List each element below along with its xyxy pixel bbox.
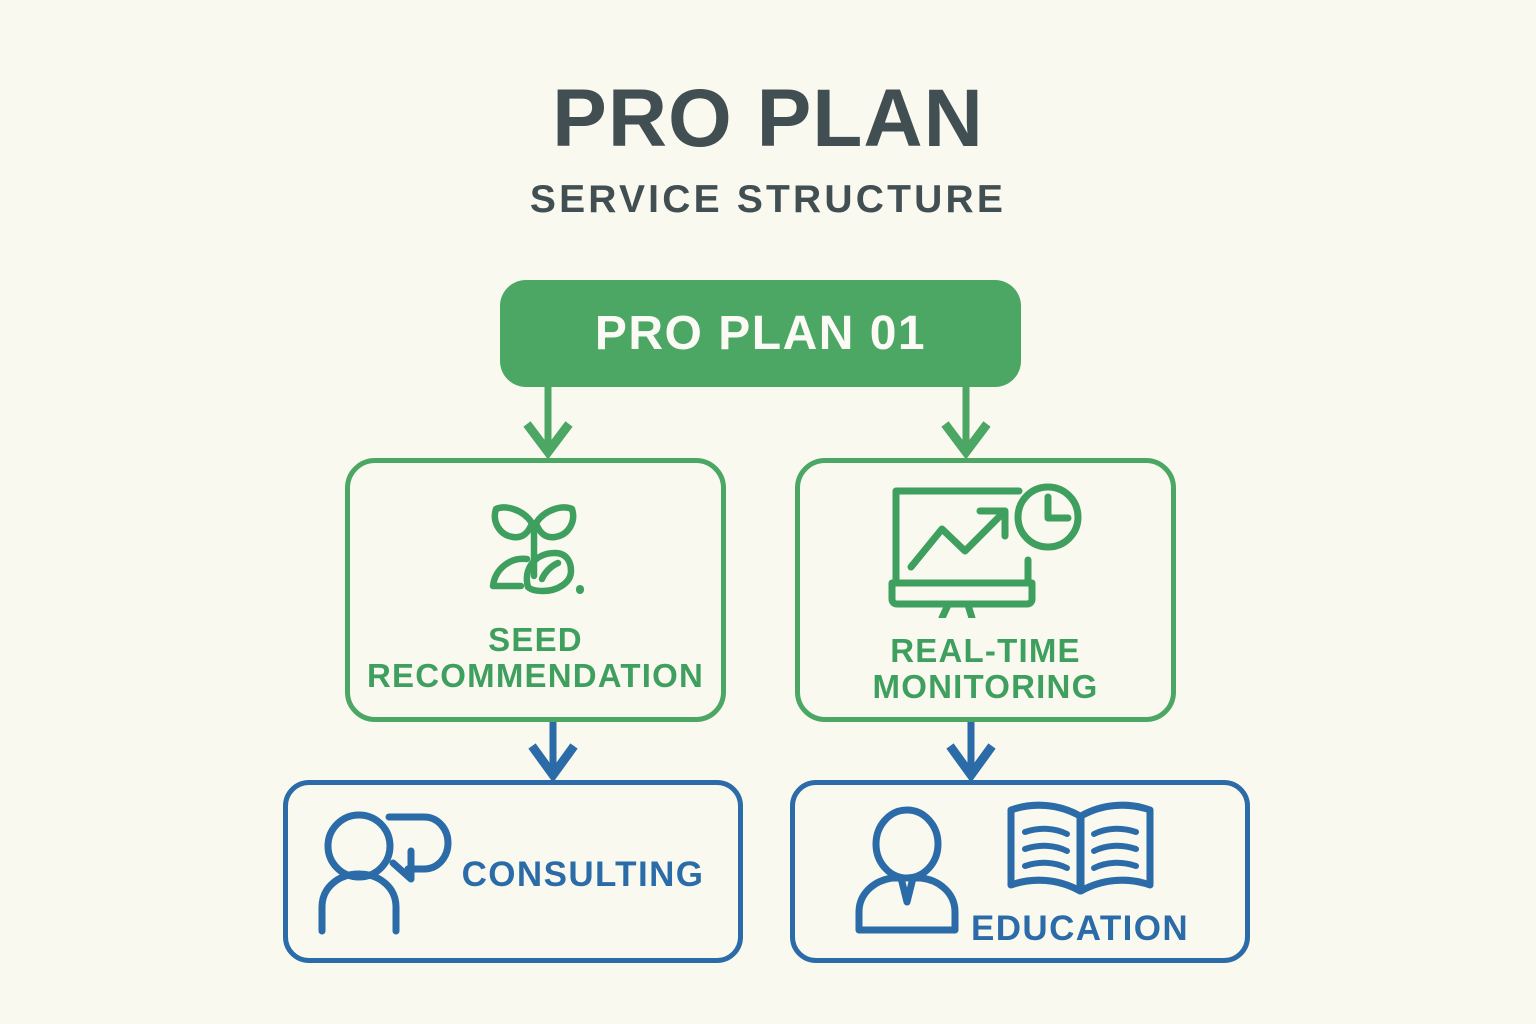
monitor-chart-clock-icon xyxy=(880,478,1092,623)
open-book-icon xyxy=(1003,796,1158,905)
page-subtitle: SERVICE STRUCTURE xyxy=(0,180,1536,219)
root-node-label: PRO PLAN 01 xyxy=(595,310,926,358)
node-seed-recommendation-label: SEED RECOMMENDATION xyxy=(367,622,704,693)
connector-monitoring-to-education xyxy=(950,722,992,775)
node-consulting[interactable]: CONSULTING xyxy=(283,780,743,963)
connector-seed-to-consulting xyxy=(532,722,574,775)
teacher-person-icon xyxy=(847,804,967,939)
root-node-pro-plan-01[interactable]: PRO PLAN 01 xyxy=(500,280,1021,387)
diagram-canvas: PRO PLAN SERVICE STRUCTURE PRO PLAN 01 xyxy=(0,0,1536,1024)
node-real-time-monitoring-label: REAL-TIME MONITORING xyxy=(873,633,1099,704)
node-education-label: EDUCATION xyxy=(971,911,1189,948)
node-real-time-monitoring[interactable]: REAL-TIME MONITORING xyxy=(795,458,1176,722)
page-title: PRO PLAN xyxy=(0,78,1536,160)
node-education[interactable]: EDUCATION xyxy=(790,780,1250,963)
person-speech-bubble-icon xyxy=(316,803,456,940)
node-consulting-label: CONSULTING xyxy=(462,857,705,894)
node-seed-recommendation[interactable]: SEED RECOMMENDATION xyxy=(345,458,726,722)
connector-root-to-monitoring xyxy=(945,386,987,452)
seedling-icon xyxy=(483,491,589,608)
connector-root-to-seed xyxy=(527,386,569,452)
